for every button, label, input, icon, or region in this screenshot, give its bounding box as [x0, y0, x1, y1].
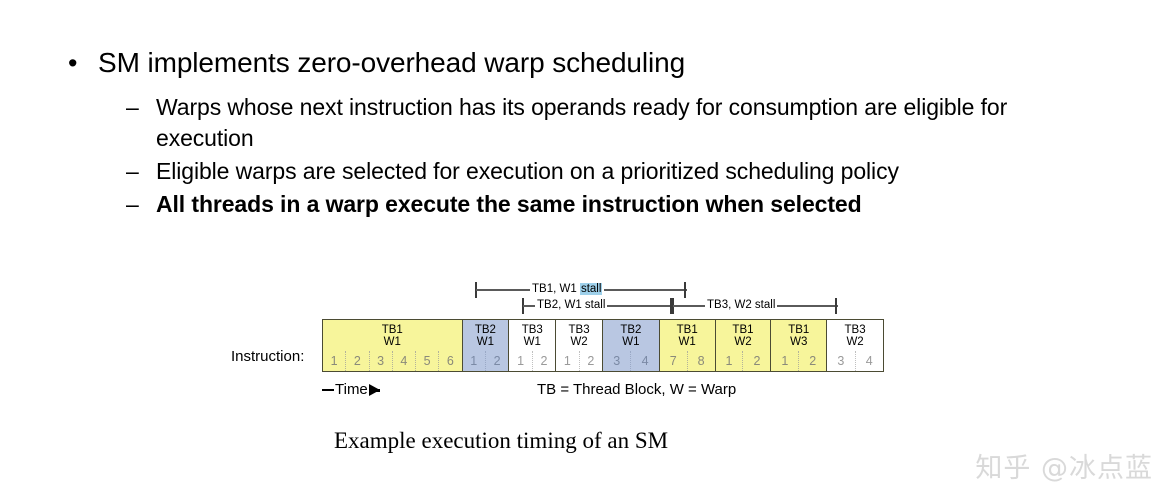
- block-warp-label: W1: [603, 336, 659, 348]
- block-tb-label: TB3: [569, 324, 590, 336]
- bracket-tick-right: [835, 298, 837, 314]
- sub-bullet-list: – Warps whose next instruction has its o…: [126, 92, 1106, 222]
- block-title: TB1 W1: [323, 320, 462, 348]
- block-warp-label: W2: [716, 336, 771, 348]
- timeline-block[interactable]: TB1 W3 1 2: [771, 320, 827, 371]
- instruction-cell: 1: [716, 351, 744, 371]
- instruction-cell: 4: [631, 351, 658, 371]
- instruction-cell: 1: [509, 351, 532, 371]
- block-warp-label: W1: [463, 336, 509, 348]
- block-cells: 1 2: [463, 351, 509, 371]
- sub-bullet-3-text: All threads in a warp execute the same i…: [156, 189, 862, 220]
- time-axis-label: Time: [335, 381, 368, 399]
- instruction-cell: 3: [603, 351, 631, 371]
- instruction-cell: 2: [799, 351, 826, 371]
- block-tb-label: TB2: [475, 324, 496, 336]
- block-title: TB3 W2: [556, 320, 602, 348]
- block-warp-label: W1: [660, 336, 715, 348]
- block-cells: 3 4: [827, 351, 883, 371]
- block-title: TB1 W1: [660, 320, 715, 348]
- timeline-block[interactable]: TB3 W2 3 4: [827, 320, 883, 371]
- stall-bracket-tb3-w2-label: TB3, W2 stall: [705, 296, 777, 314]
- sub-bullet-2: – Eligible warps are selected for execut…: [126, 156, 1106, 187]
- timeline-block[interactable]: TB3 W2 1 2: [556, 320, 603, 371]
- block-cells: 1 2: [509, 351, 555, 371]
- instruction-cell: 7: [660, 351, 688, 371]
- instruction-cell: 6: [439, 351, 461, 371]
- block-tb-label: TB3: [845, 324, 866, 336]
- figure-caption: Example execution timing of an SM: [334, 426, 668, 456]
- dash-marker-icon: –: [126, 92, 156, 123]
- instruction-cell: 2: [486, 351, 508, 371]
- sub-bullet-1: – Warps whose next instruction has its o…: [126, 92, 1106, 154]
- block-warp-label: W3: [771, 336, 826, 348]
- slide-title-text: SM implements zero-overhead warp schedul…: [98, 46, 685, 80]
- block-title: TB1 W3: [771, 320, 826, 348]
- main-bullet: • SM implements zero-overhead warp sched…: [68, 46, 1128, 80]
- timeline-block[interactable]: TB1 W1 1 2 3 4 5 6: [323, 320, 463, 371]
- instruction-cell: 2: [533, 351, 555, 371]
- instruction-cell: 2: [743, 351, 770, 371]
- stall-bracket-tb2-w1-label: TB2, W1 stall: [535, 296, 607, 314]
- sub-bullet-2-text: Eligible warps are selected for executio…: [156, 156, 899, 187]
- zhihu-watermark: 知乎 @冰点蓝: [975, 453, 1153, 485]
- instruction-cell: 2: [580, 351, 602, 371]
- legend-note: TB = Thread Block, W = Warp: [537, 381, 736, 399]
- block-title: TB1 W2: [716, 320, 771, 348]
- block-warp-label: W1: [323, 336, 462, 348]
- instruction-cell: 2: [346, 351, 369, 371]
- instruction-cell: 1: [323, 351, 346, 371]
- block-cells: 1 2 3 4 5 6: [323, 351, 462, 371]
- block-tb-label: TB3: [522, 324, 543, 336]
- instruction-cell: 1: [463, 351, 486, 371]
- instruction-axis-label: Instruction:: [231, 348, 304, 366]
- instruction-cell: 1: [771, 351, 799, 371]
- instruction-cell: 1: [556, 351, 579, 371]
- block-tb-label: TB1: [788, 324, 809, 336]
- stall-label-prefix: TB1, W1: [532, 283, 580, 295]
- time-axis: Time: [322, 381, 380, 399]
- timeline-block[interactable]: TB1 W2 1 2: [716, 320, 772, 371]
- bullet-marker-icon: •: [68, 46, 98, 80]
- instruction-timeline: TB1 W1 1 2 3 4 5 6 TB2 W1 1 2 TB3 W1 1 2: [322, 319, 884, 372]
- block-title: TB3 W2: [827, 320, 883, 348]
- instruction-cell: 4: [856, 351, 883, 371]
- instruction-cell: 3: [827, 351, 855, 371]
- block-title: TB2 W1: [463, 320, 509, 348]
- block-title: TB2 W1: [603, 320, 659, 348]
- stall-bracket-tb2-w1: TB2, W1 stall: [522, 296, 674, 314]
- block-cells: 7 8: [660, 351, 715, 371]
- instruction-cell: 3: [370, 351, 393, 371]
- block-title: TB3 W1: [509, 320, 555, 348]
- instruction-cell: 5: [416, 351, 439, 371]
- block-cells: 1 2: [771, 351, 826, 371]
- instruction-cell: 4: [393, 351, 416, 371]
- block-tb-label: TB2: [620, 324, 641, 336]
- dash-marker-icon: –: [126, 156, 156, 187]
- sub-bullet-3: – All threads in a warp execute the same…: [126, 189, 1106, 220]
- block-warp-label: W2: [556, 336, 602, 348]
- timeline-block[interactable]: TB2 W1 3 4: [603, 320, 660, 371]
- block-warp-label: W1: [509, 336, 555, 348]
- block-cells: 1 2: [556, 351, 602, 371]
- block-warp-label: W2: [827, 336, 883, 348]
- block-tb-label: TB1: [732, 324, 753, 336]
- instruction-cell: 8: [688, 351, 715, 371]
- block-tb-label: TB1: [677, 324, 698, 336]
- timeline-block[interactable]: TB1 W1 7 8: [660, 320, 716, 371]
- timeline-block[interactable]: TB3 W1 1 2: [509, 320, 556, 371]
- block-tb-label: TB1: [382, 324, 403, 336]
- block-cells: 3 4: [603, 351, 659, 371]
- time-axis-arrow-icon: [369, 384, 380, 396]
- sub-bullet-1-text: Warps whose next instruction has its ope…: [156, 92, 1086, 154]
- block-cells: 1 2: [716, 351, 771, 371]
- stall-bracket-tb3-w2: TB3, W2 stall: [672, 296, 839, 314]
- stall-keyword-highlight: stall: [580, 283, 602, 295]
- timeline-block[interactable]: TB2 W1 1 2: [463, 320, 510, 371]
- dash-marker-icon: –: [126, 189, 156, 220]
- time-axis-dash-icon: [322, 389, 334, 391]
